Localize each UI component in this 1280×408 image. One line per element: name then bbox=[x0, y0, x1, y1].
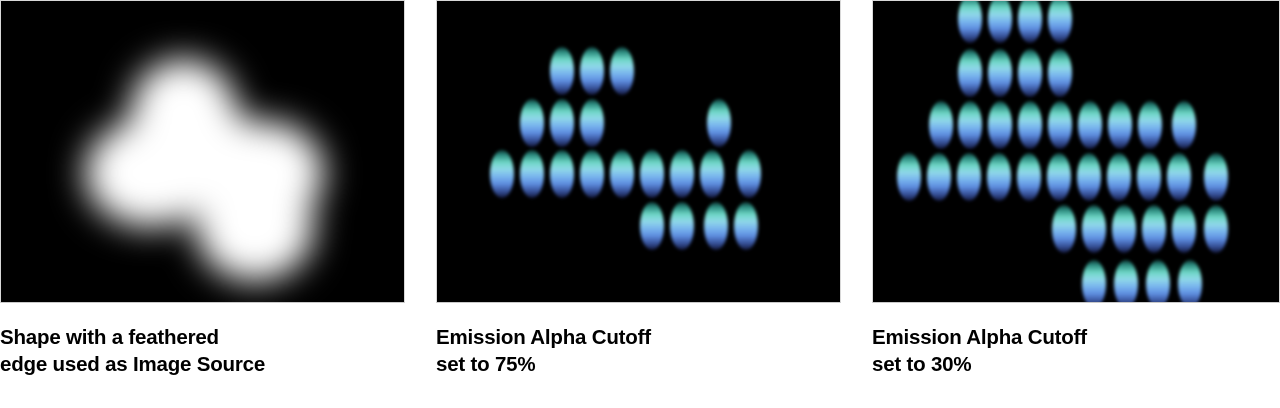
panel-cutoff-75: Emission Alpha Cutoff set to 75% bbox=[436, 0, 841, 379]
blob-lobe-core bbox=[141, 101, 261, 207]
emission-particle bbox=[520, 150, 544, 198]
emission-particle bbox=[1018, 0, 1042, 43]
emission-particle bbox=[640, 202, 664, 250]
caption-line: Shape with a feathered bbox=[0, 324, 393, 351]
emission-particle bbox=[640, 150, 664, 198]
figure-comparison-row: Shape with a feathered edge used as Imag… bbox=[0, 0, 1280, 408]
emission-particle bbox=[988, 49, 1012, 97]
emission-particle bbox=[704, 202, 728, 250]
panel-3-caption: Emission Alpha Cutoff set to 30% bbox=[872, 324, 1280, 379]
emission-particle bbox=[610, 150, 634, 198]
emission-particle bbox=[670, 202, 694, 250]
particle-field-75 bbox=[437, 1, 840, 302]
emission-particle bbox=[958, 49, 982, 97]
emission-particle bbox=[1048, 0, 1072, 43]
emission-particle bbox=[1078, 101, 1102, 149]
emission-particle bbox=[670, 150, 694, 198]
emission-particle bbox=[707, 99, 731, 147]
emission-particle bbox=[1017, 153, 1041, 201]
feathered-shape-graphic bbox=[1, 1, 404, 302]
emission-particle bbox=[1137, 153, 1161, 201]
emission-particle bbox=[1167, 153, 1191, 201]
emission-particle bbox=[1114, 260, 1138, 303]
emission-particle bbox=[1172, 101, 1196, 149]
emission-particle bbox=[1107, 153, 1131, 201]
emission-particle bbox=[1172, 205, 1196, 253]
emission-particle bbox=[1204, 153, 1228, 201]
emission-particle bbox=[700, 150, 724, 198]
emission-particle bbox=[1082, 260, 1106, 303]
emission-particle bbox=[1082, 205, 1106, 253]
emission-particle bbox=[580, 150, 604, 198]
emission-particle bbox=[1048, 101, 1072, 149]
emission-particle bbox=[550, 47, 574, 95]
panel-2-caption: Emission Alpha Cutoff set to 75% bbox=[436, 324, 841, 379]
particle-field-30 bbox=[873, 1, 1279, 302]
emission-particle bbox=[958, 0, 982, 43]
emission-particle bbox=[550, 150, 574, 198]
caption-line: Emission Alpha Cutoff bbox=[872, 324, 1268, 351]
emission-particle bbox=[580, 47, 604, 95]
panel-cutoff-30: Emission Alpha Cutoff set to 30% bbox=[872, 0, 1280, 379]
caption-line: set to 30% bbox=[872, 351, 1268, 378]
emission-particle bbox=[1142, 205, 1166, 253]
emission-particle bbox=[737, 150, 761, 198]
emission-particle bbox=[987, 153, 1011, 201]
panel-1-caption: Shape with a feathered edge used as Imag… bbox=[0, 324, 405, 379]
emission-particle bbox=[988, 0, 1012, 43]
emission-particle bbox=[1047, 153, 1071, 201]
emission-particle bbox=[1018, 49, 1042, 97]
emission-particle bbox=[1018, 101, 1042, 149]
emission-particle bbox=[1178, 260, 1202, 303]
emission-particle bbox=[929, 101, 953, 149]
emission-particle bbox=[580, 99, 604, 147]
emission-particle bbox=[1052, 205, 1076, 253]
emission-particle bbox=[610, 47, 634, 95]
emission-particle bbox=[520, 99, 544, 147]
emission-particle bbox=[927, 153, 951, 201]
panel-3-viewport bbox=[872, 0, 1280, 303]
caption-line: Emission Alpha Cutoff bbox=[436, 324, 829, 351]
emission-particle bbox=[897, 153, 921, 201]
caption-line: set to 75% bbox=[436, 351, 829, 378]
panel-1-viewport bbox=[0, 0, 405, 303]
emission-particle bbox=[1146, 260, 1170, 303]
emission-particle bbox=[1048, 49, 1072, 97]
emission-particle bbox=[988, 101, 1012, 149]
emission-particle bbox=[1112, 205, 1136, 253]
emission-particle bbox=[1077, 153, 1101, 201]
emission-particle bbox=[550, 99, 574, 147]
emission-particle bbox=[490, 150, 514, 198]
panel-2-viewport bbox=[436, 0, 841, 303]
emission-particle bbox=[734, 202, 758, 250]
emission-particle bbox=[1138, 101, 1162, 149]
emission-particle bbox=[958, 101, 982, 149]
caption-line: edge used as Image Source bbox=[0, 351, 393, 378]
emission-particle bbox=[957, 153, 981, 201]
panel-image-source: Shape with a feathered edge used as Imag… bbox=[0, 0, 405, 379]
emission-particle bbox=[1108, 101, 1132, 149]
emission-particle bbox=[1204, 205, 1228, 253]
